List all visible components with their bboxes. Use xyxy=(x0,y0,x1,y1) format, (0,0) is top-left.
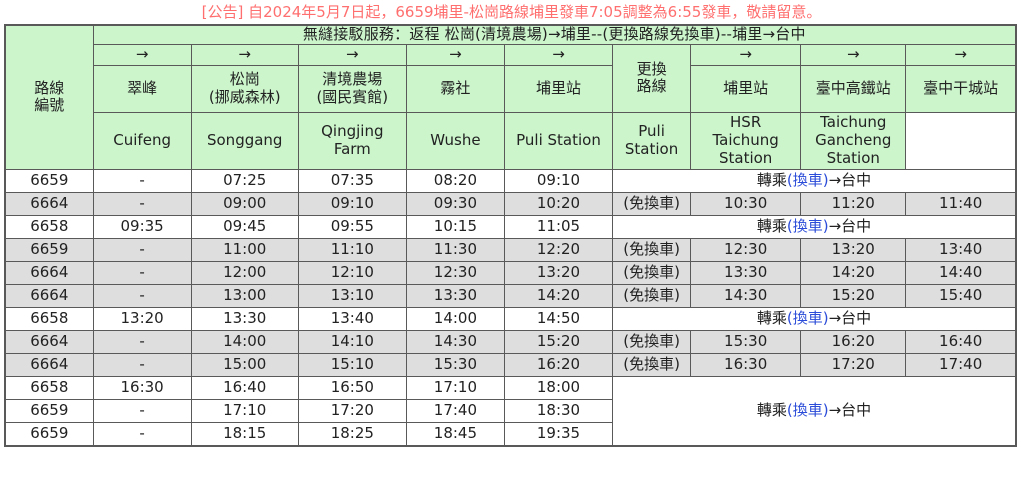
cell-qingjing-time: 12:10 xyxy=(298,261,406,284)
cell-cuifeng-time: 09:35 xyxy=(93,215,191,238)
cell-puli-time: 18:30 xyxy=(504,399,612,422)
station-en-qingjing-line2: Farm xyxy=(300,141,405,159)
station-en-gancheng-line1: Taichung xyxy=(802,114,904,132)
cell-songgang-time: 14:00 xyxy=(191,330,298,353)
arrow-icon-2: → xyxy=(191,44,298,65)
table-row: 6659-07:2507:3508:2009:10轉乘(換車)→台中 xyxy=(5,169,1016,192)
station-cn-puli2-line1: 埔里站 xyxy=(692,80,799,98)
cell-cuifeng-time: - xyxy=(93,261,191,284)
station-en-hsr-line3: Station xyxy=(692,150,799,168)
cell-route-number: 6658 xyxy=(5,215,93,238)
station-en-wushe-line1: Wushe xyxy=(408,132,503,150)
cell-no-change-note: (免換車) xyxy=(613,238,691,261)
cell-gancheng-time: 13:40 xyxy=(906,238,1016,261)
cell-wushe-time: 11:30 xyxy=(406,238,504,261)
cell-route-number: 6659 xyxy=(5,399,93,422)
transfer-prefix: 轉乘 xyxy=(757,309,787,327)
cell-wushe-time: 17:40 xyxy=(406,399,504,422)
change-route-header-line1: 更換 xyxy=(614,61,689,79)
cell-qingjing-time: 15:10 xyxy=(298,353,406,376)
transfer-prefix: 轉乘 xyxy=(757,401,787,419)
cell-cuifeng-time: - xyxy=(93,169,191,192)
cell-qingjing-time: 09:55 xyxy=(298,215,406,238)
cell-no-change-note: (免換車) xyxy=(613,261,691,284)
station-en-puli-line1: Puli Station xyxy=(506,132,611,150)
cell-puli-time: 14:20 xyxy=(504,284,612,307)
cell-cuifeng-time: - xyxy=(93,330,191,353)
cell-songgang-time: 09:45 xyxy=(191,215,298,238)
cell-wushe-time: 13:30 xyxy=(406,284,504,307)
arrow-icon-4: → xyxy=(406,44,504,65)
arrow-icon-7: → xyxy=(801,44,906,65)
cell-cuifeng-time: - xyxy=(93,422,191,446)
cell-no-change-note: (免換車) xyxy=(613,330,691,353)
cell-route-number: 6664 xyxy=(5,284,93,307)
transfer-change-note: (換車) xyxy=(787,309,829,327)
announcement-banner: [公告] 自2024年5月7日起，6659埔里-松崗路線埔里發車7:05調整為6… xyxy=(0,0,1023,24)
station-cn-gancheng-line1: 臺中干城站 xyxy=(907,80,1014,98)
cell-transfer-note: 轉乘(換車)→台中 xyxy=(613,376,1016,446)
cell-hsr-taichung-time: 16:20 xyxy=(801,330,906,353)
arrow-icon-8: → xyxy=(906,44,1016,65)
cell-gancheng-time: 17:40 xyxy=(906,353,1016,376)
station-en-songgang: Songgang xyxy=(191,112,298,169)
cell-songgang-time: 16:40 xyxy=(191,376,298,399)
table-row: 6664-13:0013:1013:3014:20(免換車)14:3015:20… xyxy=(5,284,1016,307)
cell-no-change-note: (免換車) xyxy=(613,192,691,215)
cell-qingjing-time: 09:10 xyxy=(298,192,406,215)
station-cn-puli: 埔里站 xyxy=(504,65,612,112)
transfer-suffix: →台中 xyxy=(829,171,872,189)
cell-songgang-time: 11:00 xyxy=(191,238,298,261)
station-name-cn-row: 翠峰 松崗 (挪威森林) 清境農場 (國民賓館) 霧社 埔里站 xyxy=(5,65,1016,112)
station-cn-cuifeng-line1: 翠峰 xyxy=(95,80,190,98)
transfer-change-note: (換車) xyxy=(787,171,829,189)
cell-puli-time: 16:20 xyxy=(504,353,612,376)
cell-wushe-time: 12:30 xyxy=(406,261,504,284)
cell-songgang-time: 13:30 xyxy=(191,307,298,330)
station-cn-puli-line1: 埔里站 xyxy=(506,80,611,98)
cell-route-number: 6664 xyxy=(5,330,93,353)
cell-puli-time: 10:20 xyxy=(504,192,612,215)
cell-puli-time: 12:20 xyxy=(504,238,612,261)
service-title: 無縫接駁服務：返程 松崗(清境農場)→埔里--(更換路線免換車)--埔里→台中 xyxy=(93,25,1016,44)
transfer-suffix: →台中 xyxy=(829,217,872,235)
transfer-prefix: 轉乘 xyxy=(757,217,787,235)
station-en-hsr-line2: Taichung xyxy=(692,132,799,150)
cell-songgang-time: 07:25 xyxy=(191,169,298,192)
station-cn-wushe-line1: 霧社 xyxy=(408,80,503,98)
cell-wushe-time: 08:20 xyxy=(406,169,504,192)
cell-puli-depart-time: 16:30 xyxy=(691,353,801,376)
table-row: 6664-12:0012:1012:3013:20(免換車)13:3014:20… xyxy=(5,261,1016,284)
cell-qingjing-time: 14:10 xyxy=(298,330,406,353)
arrow-icon-3: → xyxy=(298,44,406,65)
station-en-puli2: Puli Station xyxy=(613,112,691,169)
station-en-gancheng: Taichung Gancheng Station xyxy=(801,112,906,169)
cell-transfer-note: 轉乘(換車)→台中 xyxy=(613,215,1016,238)
station-en-qingjing-line1: Qingjing xyxy=(300,123,405,141)
route-number-header-line1: 路線 xyxy=(7,80,92,98)
station-cn-wushe: 霧社 xyxy=(406,65,504,112)
cell-route-number: 6664 xyxy=(5,353,93,376)
cell-route-number: 6664 xyxy=(5,261,93,284)
table-row: 665813:2013:3013:4014:0014:50轉乘(換車)→台中 xyxy=(5,307,1016,330)
cell-gancheng-time: 16:40 xyxy=(906,330,1016,353)
station-cn-cuifeng: 翠峰 xyxy=(93,65,191,112)
station-en-puli: Puli Station xyxy=(504,112,612,169)
change-route-header: 更換 路線 xyxy=(613,44,691,112)
station-name-en-row: Cuifeng Songgang Qingjing Farm Wushe xyxy=(5,112,1016,169)
cell-route-number: 6659 xyxy=(5,169,93,192)
station-en-wushe: Wushe xyxy=(406,112,504,169)
arrow-row: → → → → → 更換 路線 → → → xyxy=(5,44,1016,65)
route-number-header: 路線 編號 xyxy=(5,25,93,169)
cell-route-number: 6658 xyxy=(5,307,93,330)
station-cn-hsr-taichung: 臺中高鐵站 xyxy=(801,65,906,112)
change-route-header-line2: 路線 xyxy=(614,78,689,96)
station-en-gancheng-line2: Gancheng xyxy=(802,132,904,150)
cell-songgang-time: 18:15 xyxy=(191,422,298,446)
station-cn-gancheng: 臺中干城站 xyxy=(906,65,1016,112)
cell-route-number: 6659 xyxy=(5,238,93,261)
cell-hsr-taichung-time: 13:20 xyxy=(801,238,906,261)
cell-route-number: 6664 xyxy=(5,192,93,215)
cell-puli-time: 11:05 xyxy=(504,215,612,238)
shuttle-timetable: 路線 編號 無縫接駁服務：返程 松崗(清境農場)→埔里--(更換路線免換車)--… xyxy=(4,24,1017,447)
arrow-icon-1: → xyxy=(93,44,191,65)
cell-songgang-time: 13:00 xyxy=(191,284,298,307)
cell-wushe-time: 18:45 xyxy=(406,422,504,446)
cell-hsr-taichung-time: 14:20 xyxy=(801,261,906,284)
table-row: 6659-11:0011:1011:3012:20(免換車)12:3013:20… xyxy=(5,238,1016,261)
cell-transfer-note: 轉乘(換車)→台中 xyxy=(613,169,1016,192)
station-cn-songgang-line1: 松崗 xyxy=(193,71,297,89)
cell-wushe-time: 10:15 xyxy=(406,215,504,238)
cell-wushe-time: 17:10 xyxy=(406,376,504,399)
station-en-qingjing: Qingjing Farm xyxy=(298,112,406,169)
cell-qingjing-time: 13:40 xyxy=(298,307,406,330)
cell-puli-time: 18:00 xyxy=(504,376,612,399)
cell-puli-time: 09:10 xyxy=(504,169,612,192)
cell-puli-time: 14:50 xyxy=(504,307,612,330)
station-en-puli2-line1: Puli Station xyxy=(614,123,689,158)
cell-puli-depart-time: 14:30 xyxy=(691,284,801,307)
cell-cuifeng-time: 16:30 xyxy=(93,376,191,399)
cell-puli-depart-time: 13:30 xyxy=(691,261,801,284)
cell-wushe-time: 14:00 xyxy=(406,307,504,330)
cell-cuifeng-time: - xyxy=(93,238,191,261)
cell-songgang-time: 12:00 xyxy=(191,261,298,284)
station-en-cuifeng: Cuifeng xyxy=(93,112,191,169)
cell-gancheng-time: 15:40 xyxy=(906,284,1016,307)
cell-wushe-time: 15:30 xyxy=(406,353,504,376)
route-number-header-line2: 編號 xyxy=(7,97,92,115)
cell-transfer-note: 轉乘(換車)→台中 xyxy=(613,307,1016,330)
cell-qingjing-time: 17:20 xyxy=(298,399,406,422)
station-cn-qingjing-line2: (國民賓館) xyxy=(300,89,405,107)
cell-songgang-time: 15:00 xyxy=(191,353,298,376)
station-cn-qingjing: 清境農場 (國民賓館) xyxy=(298,65,406,112)
cell-route-number: 6659 xyxy=(5,422,93,446)
cell-cuifeng-time: - xyxy=(93,353,191,376)
station-en-songgang-line1: Songgang xyxy=(193,132,297,150)
transfer-suffix: →台中 xyxy=(829,401,872,419)
station-cn-puli2: 埔里站 xyxy=(691,65,801,112)
cell-route-number: 6658 xyxy=(5,376,93,399)
transfer-suffix: →台中 xyxy=(829,309,872,327)
timetable-body: 6659-07:2507:3508:2009:10轉乘(換車)→台中6664-0… xyxy=(5,169,1016,446)
cell-cuifeng-time: - xyxy=(93,192,191,215)
table-row: 6664-15:0015:1015:3016:20(免換車)16:3017:20… xyxy=(5,353,1016,376)
cell-hsr-taichung-time: 17:20 xyxy=(801,353,906,376)
cell-qingjing-time: 18:25 xyxy=(298,422,406,446)
cell-songgang-time: 17:10 xyxy=(191,399,298,422)
cell-puli-depart-time: 10:30 xyxy=(691,192,801,215)
cell-cuifeng-time: 13:20 xyxy=(93,307,191,330)
cell-songgang-time: 09:00 xyxy=(191,192,298,215)
cell-no-change-note: (免換車) xyxy=(613,284,691,307)
table-title-row: 路線 編號 無縫接駁服務：返程 松崗(清境農場)→埔里--(更換路線免換車)--… xyxy=(5,25,1016,44)
cell-qingjing-time: 07:35 xyxy=(298,169,406,192)
cell-wushe-time: 09:30 xyxy=(406,192,504,215)
arrow-icon-5: → xyxy=(504,44,612,65)
table-row: 665809:3509:4509:5510:1511:05轉乘(換車)→台中 xyxy=(5,215,1016,238)
station-en-cuifeng-line1: Cuifeng xyxy=(95,132,190,150)
cell-puli-depart-time: 12:30 xyxy=(691,238,801,261)
station-en-hsr-line1: HSR xyxy=(692,114,799,132)
cell-hsr-taichung-time: 11:20 xyxy=(801,192,906,215)
cell-qingjing-time: 13:10 xyxy=(298,284,406,307)
cell-cuifeng-time: - xyxy=(93,399,191,422)
station-en-gancheng-line3: Station xyxy=(802,150,904,168)
cell-wushe-time: 14:30 xyxy=(406,330,504,353)
station-cn-qingjing-line1: 清境農場 xyxy=(300,71,405,89)
table-row: 6664-14:0014:1014:3015:20(免換車)15:3016:20… xyxy=(5,330,1016,353)
cell-puli-time: 19:35 xyxy=(504,422,612,446)
transfer-change-note: (換車) xyxy=(787,217,829,235)
transfer-prefix: 轉乘 xyxy=(757,171,787,189)
station-cn-songgang-line2: (挪威森林) xyxy=(193,89,297,107)
station-en-hsr-taichung: HSR Taichung Station xyxy=(691,112,801,169)
cell-puli-depart-time: 15:30 xyxy=(691,330,801,353)
cell-cuifeng-time: - xyxy=(93,284,191,307)
arrow-icon-6: → xyxy=(691,44,801,65)
table-row: 665816:3016:4016:5017:1018:00轉乘(換車)→台中 xyxy=(5,376,1016,399)
cell-puli-time: 15:20 xyxy=(504,330,612,353)
cell-qingjing-time: 11:10 xyxy=(298,238,406,261)
cell-gancheng-time: 14:40 xyxy=(906,261,1016,284)
cell-puli-time: 13:20 xyxy=(504,261,612,284)
cell-no-change-note: (免換車) xyxy=(613,353,691,376)
timetable-page: [公告] 自2024年5月7日起，6659埔里-松崗路線埔里發車7:05調整為6… xyxy=(0,0,1023,487)
cell-gancheng-time: 11:40 xyxy=(906,192,1016,215)
transfer-change-note: (換車) xyxy=(787,401,829,419)
cell-hsr-taichung-time: 15:20 xyxy=(801,284,906,307)
station-cn-hsr-line1: 臺中高鐵站 xyxy=(802,80,904,98)
station-cn-songgang: 松崗 (挪威森林) xyxy=(191,65,298,112)
cell-qingjing-time: 16:50 xyxy=(298,376,406,399)
table-row: 6664-09:0009:1009:3010:20(免換車)10:3011:20… xyxy=(5,192,1016,215)
